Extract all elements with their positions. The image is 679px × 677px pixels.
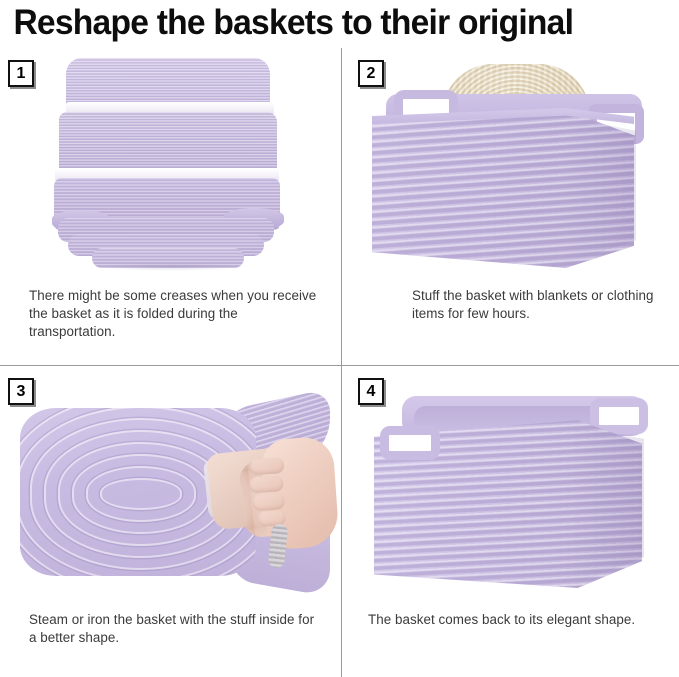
step-caption-3: Steam or iron the basket with the stuff … bbox=[29, 611, 321, 647]
page-title: Reshape the baskets to their original bbox=[0, 0, 665, 46]
finger bbox=[250, 457, 285, 475]
finger bbox=[249, 475, 284, 493]
step-number-badge-4: 4 bbox=[358, 378, 384, 405]
step-number-badge-1: 1 bbox=[8, 60, 34, 87]
finished-basket-image bbox=[374, 392, 656, 592]
steaming-basket-image bbox=[14, 396, 334, 592]
stuffed-basket-image bbox=[364, 64, 662, 272]
rope-coil-ring bbox=[100, 478, 182, 510]
step-panel-3: 3 bbox=[0, 366, 341, 677]
steamer-power-cord bbox=[268, 523, 289, 568]
step-caption-4: The basket comes back to its elegant sha… bbox=[368, 611, 673, 629]
reshape-basket-infographic: Reshape the baskets to their original 1 … bbox=[0, 0, 679, 677]
step-number-badge-3: 3 bbox=[8, 378, 34, 405]
step-panel-4: 4 The basket comes back to its elegant s… bbox=[342, 366, 679, 677]
handheld-steamer bbox=[210, 432, 336, 564]
step-caption-1: There might be some creases when you rec… bbox=[29, 287, 319, 341]
step-number-badge-2: 2 bbox=[358, 60, 384, 87]
basket-handle-left bbox=[380, 426, 440, 460]
step-caption-2: Stuff the basket with blankets or clothi… bbox=[412, 287, 667, 323]
basket-side-shading bbox=[562, 116, 636, 264]
step-panel-2: 2 Stuff the basket with blankets or clot… bbox=[342, 48, 679, 365]
finger bbox=[252, 493, 285, 511]
folded-basket-image bbox=[52, 58, 287, 270]
step-panel-1: 1 There might be some creases when you r… bbox=[0, 48, 341, 365]
drop-shadow bbox=[96, 263, 246, 271]
